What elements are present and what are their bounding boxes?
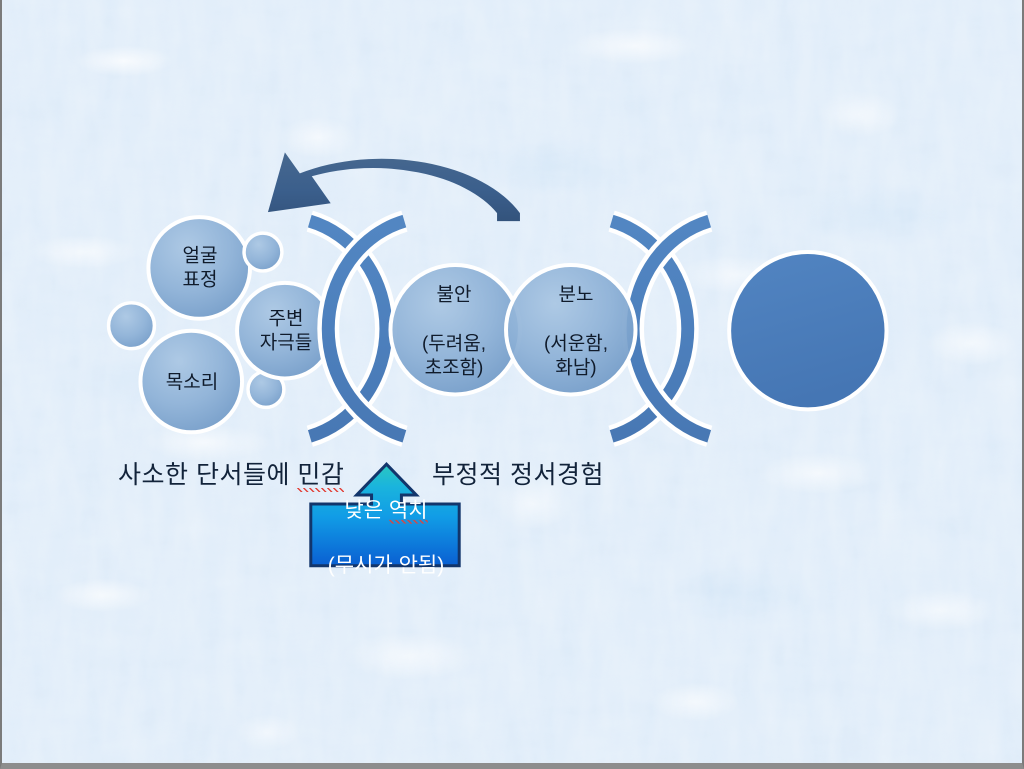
caption-right-text: 부정적 정서경험 (432, 461, 604, 489)
caption-left-text: 사소한 단서들에 (118, 461, 297, 489)
bubble-facial-expression (148, 217, 250, 319)
left-cluster (109, 217, 333, 432)
middle-cluster (390, 265, 635, 394)
bubble-outcome-solid (729, 252, 886, 409)
right-cluster (729, 252, 886, 409)
feedback-loop-arrow (268, 152, 520, 221)
bubble-dot-top-right (244, 233, 282, 271)
feedback-loop-arrow-body (268, 152, 520, 221)
bubble-dot-left (109, 303, 155, 349)
bubble-voice (140, 331, 242, 433)
bubble-anger (506, 265, 635, 394)
caption-left: 사소한 단서들에 민감 (118, 455, 344, 491)
diagram-artwork (2, 0, 1022, 766)
bubble-anxiety (390, 265, 519, 394)
slide-canvas: 얼굴 표정 목소리 주변 자극들 불안 (두려움, 초조함) 분노 (서운함, … (0, 0, 1024, 769)
caption-left-squiggly-text: 민감 (297, 461, 344, 492)
caption-right: 부정적 정서경험 (432, 455, 604, 491)
